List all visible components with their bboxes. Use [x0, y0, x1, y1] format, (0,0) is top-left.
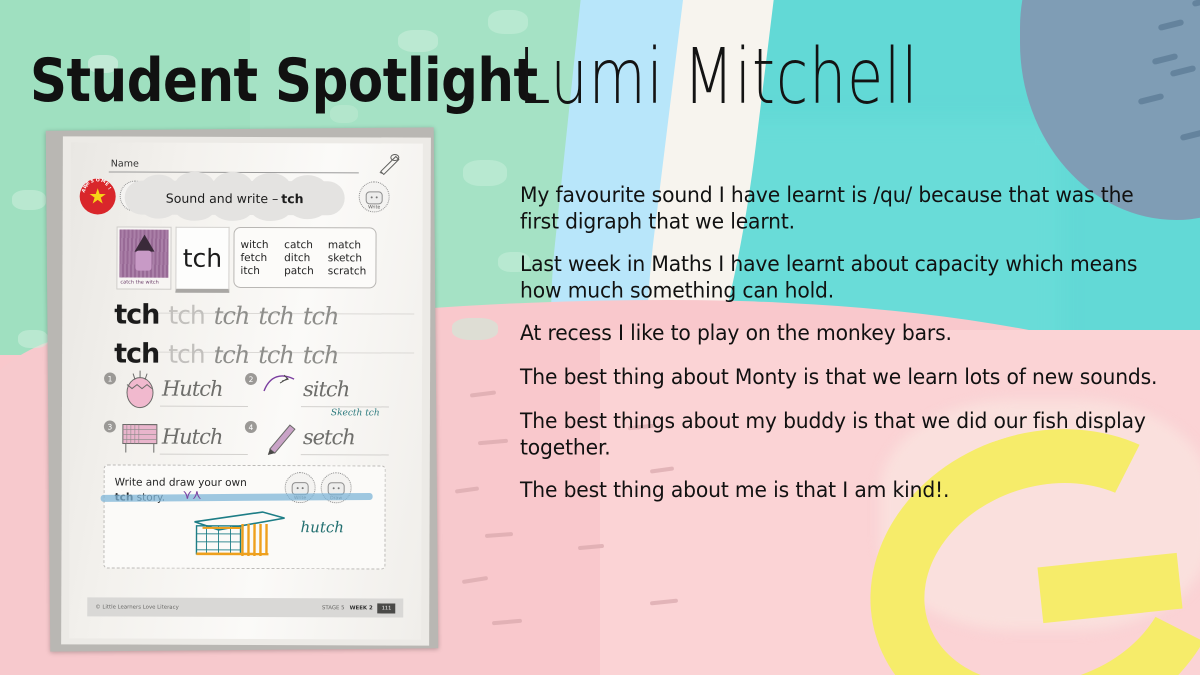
word-item: scratch: [328, 265, 370, 277]
teacher-note: Skecth tch: [331, 408, 380, 418]
exercise-number: 1: [104, 372, 116, 384]
story-box: Write and draw your own tch story. Write…: [103, 464, 385, 569]
exercise-number: 2: [245, 373, 257, 385]
witch-body-icon: [135, 251, 151, 271]
worksheet-title-focus: tch: [281, 191, 303, 206]
purple-crown-doodle: ⋎⋏: [183, 488, 202, 503]
word-item: itch: [240, 264, 282, 276]
practice-written-word: tch: [214, 340, 250, 368]
footer-stage: STAGE 5: [322, 605, 345, 611]
word-item: sketch: [328, 252, 370, 264]
exercise-number: 3: [104, 420, 116, 432]
page-title: Student Spotlight: [30, 47, 538, 115]
exercise-answer: setch: [303, 425, 355, 449]
worksheet-photo-inner: Name ★ A W E S O M: [61, 136, 431, 645]
worksheet-title: Sound and write –: [166, 190, 279, 205]
picture-card-witch: catch the witch: [116, 227, 171, 290]
response-paragraph: The best thing about Monty is that we le…: [520, 364, 1175, 391]
practice-traced-word: tch: [168, 301, 205, 330]
awesome-sticker: ★ A W E S O M E !: [80, 178, 116, 214]
practice-written-word: tch: [258, 302, 294, 330]
practice-written-word: tch: [303, 302, 339, 330]
response-paragraph: The best thing about me is that I am kin…: [520, 477, 1175, 504]
word-item: ditch: [284, 252, 326, 264]
student-name-title: Lumi Mitchell: [518, 32, 919, 121]
word-item: witch: [241, 238, 283, 250]
practice-written-word: tch: [214, 301, 250, 329]
awesome-sticker-text: A W E S O M E !: [80, 178, 116, 214]
worksheet-page: Name ★ A W E S O M: [69, 142, 423, 639]
footer-copyright: © Little Learners Love Literacy: [95, 604, 179, 610]
exercise-number: 4: [245, 421, 257, 433]
worksheet-footer: © Little Learners Love Literacy STAGE 5 …: [87, 597, 403, 617]
paint-fleck: [463, 160, 507, 186]
story-prompt-line1: Write and draw your own: [115, 477, 247, 489]
witch-hat-icon: [134, 235, 154, 252]
practice-traced-word: tch: [168, 340, 205, 369]
word-item: catch: [284, 239, 326, 251]
footer-meta: STAGE 5 WEEK 2 111: [322, 603, 395, 613]
rabbit-hutch-icon: [119, 417, 161, 457]
word-item: patch: [284, 265, 326, 277]
response-paragraph: My favourite sound I have learnt is /qu/…: [520, 182, 1175, 235]
stitch-thread-icon: [260, 369, 302, 409]
pencil-icon: [377, 151, 403, 175]
badge-write-label: Write: [368, 205, 380, 210]
student-spotlight-slide: Student Spotlight Lumi Mitchell My favou…: [0, 0, 1200, 675]
worksheet-name-label: Name: [111, 158, 139, 169]
paint-fleck: [452, 318, 498, 340]
footer-week: WEEK 2: [350, 605, 373, 611]
response-paragraph: The best things about my buddy is that w…: [520, 408, 1175, 461]
word-item: fetch: [240, 251, 282, 263]
monty-face-icon: [366, 191, 383, 204]
focus-sound-card: tch: [175, 227, 229, 293]
child-hutch-drawing: [192, 504, 290, 558]
footer-page-number: 111: [378, 603, 396, 613]
response-paragraph: At recess I like to play on the monkey b…: [520, 320, 1175, 347]
exercise-answer: sitch: [303, 377, 349, 401]
word-list: witch catch match fetch ditch sketch itc…: [233, 227, 376, 288]
pencil-sketch-icon: [260, 417, 302, 457]
paint-fleck: [18, 330, 48, 348]
practice-written-word: tch: [258, 341, 294, 369]
worksheet-title-banner: Sound and write – tch: [125, 181, 345, 216]
practice-written-word: tch: [303, 341, 339, 369]
story-word: hutch: [301, 518, 344, 536]
paint-fleck: [488, 10, 528, 34]
response-paragraph: Last week in Maths I have learnt about c…: [520, 251, 1175, 304]
exercise-answer: Hutch: [162, 377, 223, 401]
paint-fleck: [12, 190, 46, 210]
word-item: match: [328, 239, 370, 251]
practice-model-word: tch: [114, 300, 159, 331]
hatching-egg-icon: [119, 369, 161, 409]
worksheet-photo: Name ★ A W E S O M: [46, 127, 439, 651]
exercise-answer: Hutch: [162, 425, 223, 449]
badge-write: Write: [359, 181, 390, 212]
practice-model-word: tch: [114, 339, 159, 370]
handwriting-practice-row: tch tch tch tch tch: [114, 295, 414, 337]
picture-card-caption: catch the witch: [120, 280, 158, 286]
student-responses: My favourite sound I have learnt is /qu/…: [520, 182, 1175, 521]
